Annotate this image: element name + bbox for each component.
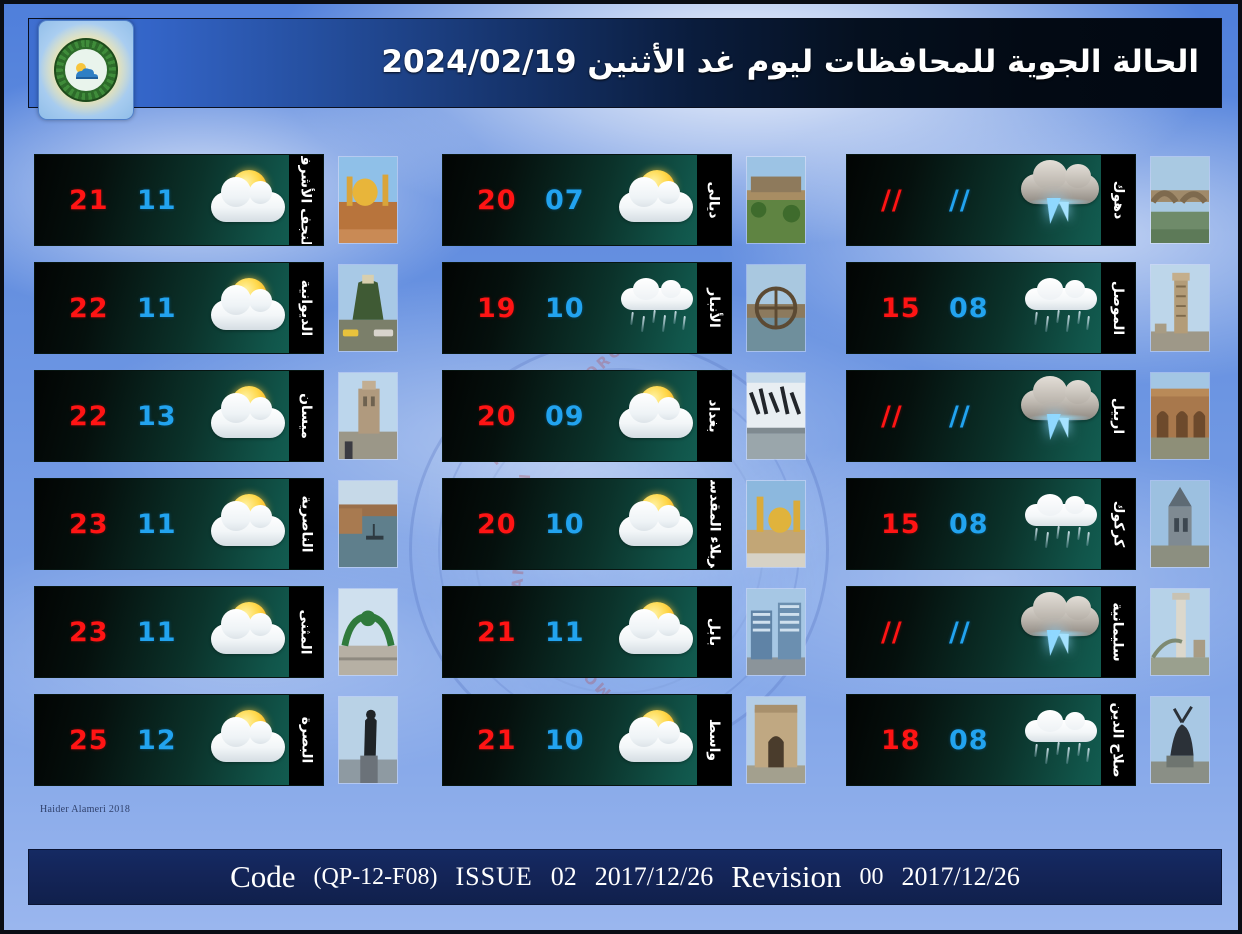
city-name: النجف الأشرف xyxy=(298,155,314,245)
forecast-card[interactable]: 23 11 المثنى xyxy=(34,586,324,678)
city-name: البصرة xyxy=(298,717,314,764)
city-label-strip: بابل xyxy=(697,587,731,677)
temp-max: 22 xyxy=(69,401,115,432)
city-name: ديالى xyxy=(706,181,722,218)
city-name: سليمانية xyxy=(1110,602,1126,661)
forecast-row[interactable]: 21 11 النجف الأشرف xyxy=(34,154,426,246)
salahaddin-statue-thumb xyxy=(1150,696,1210,784)
mosul-minaret-thumb xyxy=(1150,264,1210,352)
basra-statue-thumb xyxy=(338,696,398,784)
forecast-card[interactable]: 20 07 ديالى xyxy=(442,154,732,246)
city-name: بغداد xyxy=(706,399,722,432)
temp-max: 23 xyxy=(69,617,115,648)
diyala-park-thumb xyxy=(746,156,806,244)
city-label-strip: دهوك xyxy=(1101,155,1135,245)
sulaymaniyah-tower-thumb xyxy=(1150,588,1210,676)
forecast-card[interactable]: 21 11 بابل xyxy=(442,586,732,678)
temp-min: 07 xyxy=(545,185,591,216)
city-name: صلاح الدين xyxy=(1110,702,1126,777)
forecast-row[interactable]: 19 10 الأنبار xyxy=(442,262,834,354)
footer-code-value: (QP-12-F08) xyxy=(314,864,438,891)
footer-revision-value: 00 xyxy=(859,864,883,891)
city-label-strip: البصرة xyxy=(289,695,323,785)
page-title: الحالة الجوية للمحافظات ليوم غد الأثنين … xyxy=(319,44,1199,82)
temp-min: 13 xyxy=(137,401,183,432)
rain-icon xyxy=(1013,274,1109,342)
forecast-row[interactable]: // // اربيل xyxy=(846,370,1238,462)
city-name: المثنى xyxy=(298,609,314,654)
temp-max: 21 xyxy=(69,185,115,216)
partly-cloudy-icon xyxy=(201,598,297,666)
city-label-strip: سليمانية xyxy=(1101,587,1135,677)
city-label-strip: الأنبار xyxy=(697,263,731,353)
forecast-card[interactable]: 15 08 الموصل xyxy=(846,262,1136,354)
forecast-card[interactable]: // // اربيل xyxy=(846,370,1136,462)
forecast-card[interactable]: 18 08 صلاح الدين xyxy=(846,694,1136,786)
forecast-card[interactable]: 20 09 بغداد xyxy=(442,370,732,462)
footer-revision-date: 2017/12/26 xyxy=(901,862,1019,892)
temp-min: 10 xyxy=(545,725,591,756)
forecast-row[interactable]: 21 11 بابل xyxy=(442,586,834,678)
city-label-strip: المثنى xyxy=(289,587,323,677)
footer-issue-label: ISSUE xyxy=(456,862,533,892)
temp-max: 21 xyxy=(477,617,523,648)
footer-issue-value: 02 xyxy=(551,862,577,892)
partly-cloudy-icon xyxy=(609,166,705,234)
city-label-strip: الناصرية xyxy=(289,479,323,569)
temp-min: // xyxy=(949,401,995,432)
muthanna-arch-thumb xyxy=(338,588,398,676)
city-name: الديوانية xyxy=(298,280,314,336)
temp-max: 19 xyxy=(477,293,523,324)
partly-cloudy-icon xyxy=(201,706,297,774)
thunderstorm-icon xyxy=(1013,382,1109,450)
temp-min: 12 xyxy=(137,725,183,756)
temp-max: 22 xyxy=(69,293,115,324)
temp-max: // xyxy=(881,185,927,216)
forecast-card[interactable]: 15 08 كركوك xyxy=(846,478,1136,570)
forecast-row[interactable]: 20 10 كربلاء المقدسة xyxy=(442,478,834,570)
babil-buildings-thumb xyxy=(746,588,806,676)
forecast-row[interactable]: 21 10 واسط xyxy=(442,694,834,786)
rain-icon xyxy=(1013,490,1109,558)
forecast-card[interactable]: 22 11 الديوانية xyxy=(34,262,324,354)
partly-cloudy-icon xyxy=(201,382,297,450)
temp-min: 08 xyxy=(949,725,995,756)
temp-min: 11 xyxy=(137,509,183,540)
forecast-card[interactable]: 23 11 الناصرية xyxy=(34,478,324,570)
city-name: واسط xyxy=(706,719,722,761)
wasit-gate-thumb xyxy=(746,696,806,784)
temp-min: 11 xyxy=(137,293,183,324)
temp-max: 15 xyxy=(881,509,927,540)
forecast-card[interactable]: // // دهوك xyxy=(846,154,1136,246)
forecast-card[interactable]: 22 13 ميسان xyxy=(34,370,324,462)
temp-min: 11 xyxy=(137,185,183,216)
kirkuk-tomb-thumb xyxy=(1150,480,1210,568)
city-name: كركوك xyxy=(1110,501,1126,548)
temp-max: // xyxy=(881,617,927,648)
forecast-row[interactable]: 20 09 بغداد xyxy=(442,370,834,462)
forecast-row[interactable]: 23 11 المثنى xyxy=(34,586,426,678)
city-name: اربيل xyxy=(1110,398,1126,434)
city-name: كربلاء المقدسة xyxy=(706,479,722,569)
city-name: بابل xyxy=(706,618,722,646)
temp-min: 09 xyxy=(545,401,591,432)
temp-max: 18 xyxy=(881,725,927,756)
temp-min: 08 xyxy=(949,293,995,324)
weather-poster: IRAQI METEOROLOGICAL ORGANIZATION & SEIS… xyxy=(0,0,1242,934)
forecast-column-central: 20 07 ديالى xyxy=(442,154,834,804)
city-label-strip: الديوانية xyxy=(289,263,323,353)
city-label-strip: النجف الأشرف xyxy=(289,155,323,245)
partly-cloudy-icon xyxy=(609,490,705,558)
rain-icon xyxy=(609,274,705,342)
forecast-row[interactable]: // // سليمانية xyxy=(846,586,1238,678)
city-label-strip: الموصل xyxy=(1101,263,1135,353)
temp-max: 20 xyxy=(477,185,523,216)
forecast-row[interactable]: 22 13 ميسان xyxy=(34,370,426,462)
weather-authority-seal-icon xyxy=(38,20,134,120)
temp-max: 15 xyxy=(881,293,927,324)
header-bar: الحالة الجوية للمحافظات ليوم غد الأثنين … xyxy=(28,18,1222,108)
city-name: ميسان xyxy=(298,393,314,439)
anbar-waterwheel-thumb xyxy=(746,264,806,352)
temp-min: // xyxy=(949,617,995,648)
footer-code-label: Code xyxy=(230,859,295,895)
forecast-column-south: 21 11 النجف الأشرف xyxy=(34,154,426,804)
forecast-column-north: // // دهوك xyxy=(846,154,1238,804)
forecast-row[interactable]: 20 07 ديالى xyxy=(442,154,834,246)
forecast-row[interactable]: 22 11 الديوانية xyxy=(34,262,426,354)
temp-max: 21 xyxy=(477,725,523,756)
temp-min: 10 xyxy=(545,509,591,540)
temp-max: // xyxy=(881,401,927,432)
forecast-card[interactable]: 21 11 النجف الأشرف xyxy=(34,154,324,246)
rain-icon xyxy=(1013,706,1109,774)
erbil-citadel-thumb xyxy=(1150,372,1210,460)
forecast-row[interactable]: 23 11 الناصرية xyxy=(34,478,426,570)
najaf-shrine-thumb xyxy=(338,156,398,244)
forecast-card[interactable]: 19 10 الأنبار xyxy=(442,262,732,354)
temp-max: 23 xyxy=(69,509,115,540)
diwaniyah-monument-thumb xyxy=(338,264,398,352)
seal-sun-cloud-icon xyxy=(70,61,102,81)
city-label-strip: واسط xyxy=(697,695,731,785)
partly-cloudy-icon xyxy=(609,706,705,774)
temp-min: 11 xyxy=(545,617,591,648)
city-label-strip: اربيل xyxy=(1101,371,1135,461)
city-name: الأنبار xyxy=(706,288,722,328)
temp-max: 25 xyxy=(69,725,115,756)
city-label-strip: بغداد xyxy=(697,371,731,461)
forecast-row[interactable]: // // دهوك xyxy=(846,154,1238,246)
forecast-row[interactable]: 15 08 الموصل xyxy=(846,262,1238,354)
temp-min: 11 xyxy=(137,617,183,648)
temp-max: 20 xyxy=(477,401,523,432)
city-name: دهوك xyxy=(1110,181,1126,220)
footer-revision-label: Revision xyxy=(731,859,841,895)
city-label-strip: ديالى xyxy=(697,155,731,245)
partly-cloudy-icon xyxy=(201,166,297,234)
temp-min: // xyxy=(949,185,995,216)
temp-max: 20 xyxy=(477,509,523,540)
baghdad-monument-thumb xyxy=(746,372,806,460)
forecast-grid: 21 11 النجف الأشرف xyxy=(4,154,1242,804)
forecast-card[interactable]: 21 10 واسط xyxy=(442,694,732,786)
footer-issue-date: 2017/12/26 xyxy=(595,862,713,892)
thunderstorm-icon xyxy=(1013,598,1109,666)
forecast-card[interactable]: 20 10 كربلاء المقدسة xyxy=(442,478,732,570)
city-name: الناصرية xyxy=(298,495,314,552)
temp-min: 10 xyxy=(545,293,591,324)
city-label-strip: صلاح الدين xyxy=(1101,695,1135,785)
city-label-strip: ميسان xyxy=(289,371,323,461)
partly-cloudy-icon xyxy=(201,490,297,558)
city-name: الموصل xyxy=(1110,281,1126,335)
maysan-tower-thumb xyxy=(338,372,398,460)
partly-cloudy-icon xyxy=(201,274,297,342)
forecast-card[interactable]: // // سليمانية xyxy=(846,586,1136,678)
credit-text: Haider Alameri 2018 xyxy=(40,804,130,815)
forecast-row[interactable]: 15 08 كركوك xyxy=(846,478,1238,570)
nasiriyah-river-thumb xyxy=(338,480,398,568)
forecast-row[interactable]: 18 08 صلاح الدين xyxy=(846,694,1238,786)
forecast-card[interactable]: 25 12 البصرة xyxy=(34,694,324,786)
partly-cloudy-icon xyxy=(609,382,705,450)
karbala-shrine-thumb xyxy=(746,480,806,568)
duhok-bridge-thumb xyxy=(1150,156,1210,244)
city-label-strip: كربلاء المقدسة xyxy=(697,479,731,569)
thunderstorm-icon xyxy=(1013,166,1109,234)
footer-bar: Code (QP-12-F08) ISSUE 02 2017/12/26 Rev… xyxy=(28,849,1222,905)
forecast-row[interactable]: 25 12 البصرة xyxy=(34,694,426,786)
temp-min: 08 xyxy=(949,509,995,540)
city-label-strip: كركوك xyxy=(1101,479,1135,569)
partly-cloudy-icon xyxy=(609,598,705,666)
